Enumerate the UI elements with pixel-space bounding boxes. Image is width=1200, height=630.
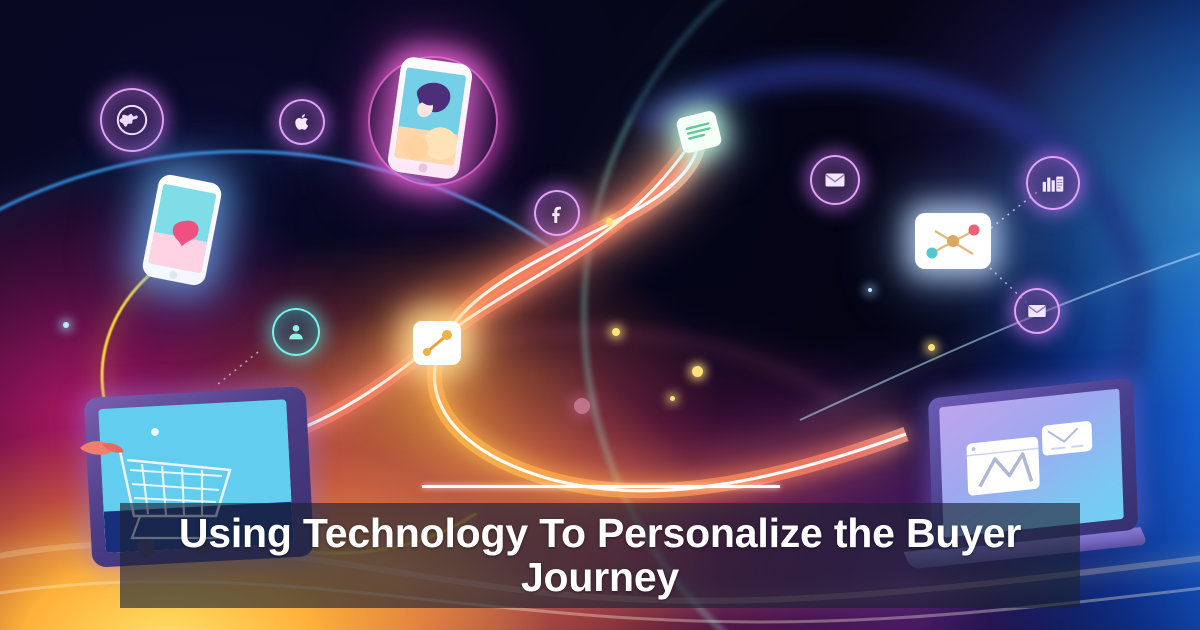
phone-home-button bbox=[418, 163, 428, 173]
analytics-network-card-icon[interactable] bbox=[915, 213, 991, 269]
page-title: Using Technology To Personalize the Buye… bbox=[130, 512, 1070, 600]
globe-icon[interactable] bbox=[100, 88, 164, 152]
share-network-icon[interactable] bbox=[413, 321, 461, 365]
apple-logo-icon[interactable] bbox=[279, 99, 325, 145]
title-overlay: Using Technology To Personalize the Buye… bbox=[120, 503, 1080, 608]
phone-home-button bbox=[169, 270, 178, 279]
bar-chart-icon[interactable] bbox=[1026, 156, 1080, 210]
title-divider bbox=[422, 485, 780, 488]
phone-screen bbox=[394, 67, 466, 165]
facebook-icon[interactable] bbox=[534, 190, 580, 236]
phone-screen bbox=[148, 184, 216, 274]
envelope-icon[interactable] bbox=[1014, 288, 1060, 334]
user-avatar-icon[interactable] bbox=[272, 308, 320, 356]
hero-banner: Using Technology To Personalize the Buye… bbox=[0, 0, 1200, 630]
envelope-icon[interactable] bbox=[810, 155, 860, 205]
